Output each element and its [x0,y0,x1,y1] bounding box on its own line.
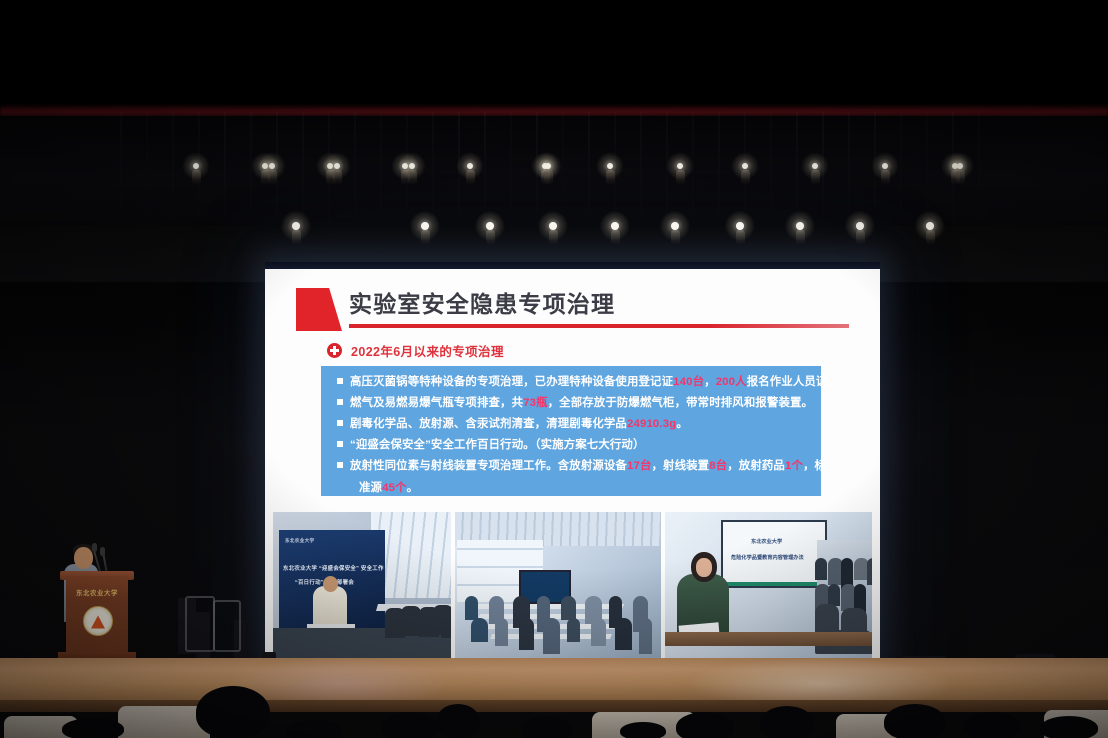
highlighted-value: 140台 [673,376,704,388]
photo2-attendee-14 [615,618,632,650]
bullet-text: “迎盛会保安全”安全工作百日行动。（实施方案七大行动） [350,439,645,451]
presentation-slide: 实验室安全隐患专项治理 2022年6月以来的专项治理 高压灭菌锅等特种设备的专项… [265,269,880,664]
drape-fold [978,112,980,230]
photo1-attendee-4 [441,608,451,638]
audience-head-6 [884,704,946,738]
bullet-text: ，标 [803,460,826,472]
stage-light-upper-12 [742,163,749,170]
photo3-screen-line-2: 危险化学品暨教育内容管理办法 [731,554,804,561]
bullet-text: ，放射药品 [727,460,785,472]
podium-university-text: 东北农业大学 [68,588,126,597]
bullet-marker-icon [337,378,343,384]
bullet-text: 高压灭菌锅等特种设备的专项治理，已办理特种设备使用登记证 [350,376,673,388]
title-underline-rule [349,324,849,328]
stage-light-upper-2 [269,163,276,170]
bullet-text: 燃气及易燃易爆气瓶专项排查，共 [350,397,523,409]
stage-light-upper-10 [607,163,614,170]
audience-head-7 [964,712,1020,738]
speaker-head [74,547,93,569]
stage-light-lower-8 [856,222,864,230]
photo3-presenter-face [696,558,712,577]
bullet-text: 准源 [359,482,382,494]
drape-fold [848,112,850,230]
drape-fold [224,112,226,230]
bullet-continuation-line: 准源45个。 [359,479,418,495]
drape-fold [770,112,772,230]
bullet-text: ， [704,376,716,388]
bullet-text: ，全部存放于防爆燃气柜，带常时排风和报警装置。 [548,397,813,409]
slide-subheading: 2022年6月以来的专项治理 [327,341,504,360]
photo3-table [665,632,872,646]
microphone-head-0 [92,543,97,552]
drape-fold [510,112,512,230]
photo2-attendee-0 [465,596,478,620]
audience-head-4 [676,712,734,738]
audience-head-10 [286,720,342,738]
highlighted-value: 8台 [709,460,727,472]
stage-light-lower-0 [292,222,300,230]
bullet-content-box: 高压灭菌锅等特种设备的专项治理，已办理特种设备使用登记证140台，200人报名作… [321,366,821,496]
photo2-attendee-11 [543,618,560,654]
stage-light-lower-6 [736,222,744,230]
stage-light-lower-1 [421,222,429,230]
stage-light-upper-11 [677,163,684,170]
page-title: 实验室安全隐患专项治理 [349,285,615,319]
bullet-text: 放射性同位素与射线装置专项治理工作。含放射源设备 [350,460,627,472]
bullet-text: 。 [676,418,688,430]
bullet-text: 。 [407,482,419,494]
audience-head-3 [522,716,572,738]
drape-fold [380,112,382,230]
photo1-screen-line-1: 东北农业大学 “迎盛会保安全” 安全工作 [283,564,384,572]
photo2-attendee-8 [471,618,488,642]
photo3-attendee-4 [867,558,872,585]
drape-fold [146,112,148,230]
red-cross-icon [327,343,342,358]
stage-light-upper-16 [957,163,964,170]
audience-head-11 [620,722,666,738]
photo2-attendee-4 [561,596,576,620]
photo2-attendee-10 [519,618,534,650]
stage-light-lower-4 [611,222,619,230]
screen-top-bezel [265,262,880,269]
bullet-text: ，射线装置 [652,460,710,472]
stage-light-lower-3 [549,222,557,230]
audience-head-0 [196,686,270,738]
bullet-marker-icon [337,441,343,447]
photo3-screen: 东北农业大学 危险化学品暨教育内容管理办法 [721,520,827,588]
audience-head-1 [382,712,438,738]
highlighted-value: 24910.3g [627,418,676,430]
photo3-screen-bar [723,582,825,586]
photo1-speaker-head [323,576,338,592]
photo-strip: 东北农业大学 东北农业大学 “迎盛会保安全” 安全工作 “百日行动” 工作部署会 [273,512,872,658]
stage-light-upper-14 [882,163,889,170]
list-item: 放射性同位素与射线装置专项治理工作。含放射源设备17台，射线装置8台，放射药品1… [337,460,812,473]
photo1-projection: 东北农业大学 东北农业大学 “迎盛会保安全” 安全工作 “百日行动” 工作部署会 [279,530,385,628]
drape-fold [562,112,564,230]
drape-fold [640,112,642,230]
photo1-corner-logo: 东北农业大学 [285,538,314,544]
red-trapezoid-accent [296,288,342,331]
list-item: 剧毒化学品、放射源、含汞试剂清查，清理剧毒化学品24910.3g。 [337,418,812,431]
stage-light-upper-13 [812,163,819,170]
audience-head-5 [760,706,814,738]
drape-fold [718,112,720,230]
stage-light-lower-2 [486,222,494,230]
highlighted-value: 73瓶 [523,397,548,409]
photo2-attendee-12 [567,618,580,642]
list-item: 高压灭菌锅等特种设备的专项治理，已办理特种设备使用登记证140台，200人报名作… [337,376,812,389]
microphone-head-1 [100,547,105,556]
stage-light-lower-7 [796,222,804,230]
university-emblem [83,606,113,636]
bullet-marker-icon [337,399,343,405]
stage-light-lower-9 [926,222,934,230]
highlighted-value: 45个 [382,482,407,494]
bullet-text: 报名作业人员证。 [747,376,839,388]
stage-light-upper-7 [467,163,474,170]
list-item [455,512,661,658]
photo3-screen-line-1: 东北农业大学 [751,538,782,545]
drape-fold [900,112,902,230]
highlighted-value: 1个 [785,460,803,472]
stage-light-upper-6 [409,163,416,170]
bullet-marker-icon [337,420,343,426]
stage-chair-1 [213,600,241,652]
red-valance-trim [0,104,1108,118]
list-item: 东北农业大学 东北农业大学 “迎盛会保安全” 安全工作 “百日行动” 工作部署会 [273,512,451,658]
photo2-attendee-15 [639,618,652,654]
stage-light-upper-4 [334,163,341,170]
list-item: “迎盛会保安全”安全工作百日行动。（实施方案七大行动） [337,439,812,452]
stage-light-upper-0 [193,163,200,170]
audience-head-9 [62,718,124,738]
photo2-attendee-13 [591,618,606,646]
photo1-attendee-1 [401,606,421,636]
slide-title-row: 实验室安全隐患专项治理 [265,283,880,329]
list-item: 燃气及易燃易爆气瓶专项排查，共73瓶，全部存放于防爆燃气柜，带常时排风和报警装置… [337,397,812,410]
drape-fold [120,112,122,230]
drape-fold [172,112,174,230]
list-item: 东北农业大学 危险化学品暨教育内容管理办法 [665,512,872,658]
bullet-text: 剧毒化学品、放射源、含汞试剂清查，清理剧毒化学品 [350,418,627,430]
drape-fold [588,112,590,230]
audience-head-8 [1040,716,1098,738]
ceiling-dark [0,0,1108,112]
drape-fold [354,112,356,230]
photo2-attendee-9 [495,618,508,646]
stage-light-upper-9 [545,163,552,170]
highlighted-value: 17台 [627,460,652,472]
bullet-marker-icon [337,462,343,468]
subheading-label: 2022年6月以来的专项治理 [351,341,504,360]
audience-head-2 [436,704,480,738]
auditorium-scene: 实验室安全隐患专项治理 2022年6月以来的专项治理 高压灭菌锅等特种设备的专项… [0,0,1108,738]
stage-chair-0 [185,596,215,652]
stage-light-lower-5 [671,222,679,230]
photo3-attendee-0 [815,558,827,580]
photo3-attendee-6 [828,584,840,606]
highlighted-value: 200人 [716,376,747,388]
projection-screen: 实验室安全隐患专项治理 2022年6月以来的专项治理 高压灭菌锅等特种设备的专项… [265,262,880,664]
